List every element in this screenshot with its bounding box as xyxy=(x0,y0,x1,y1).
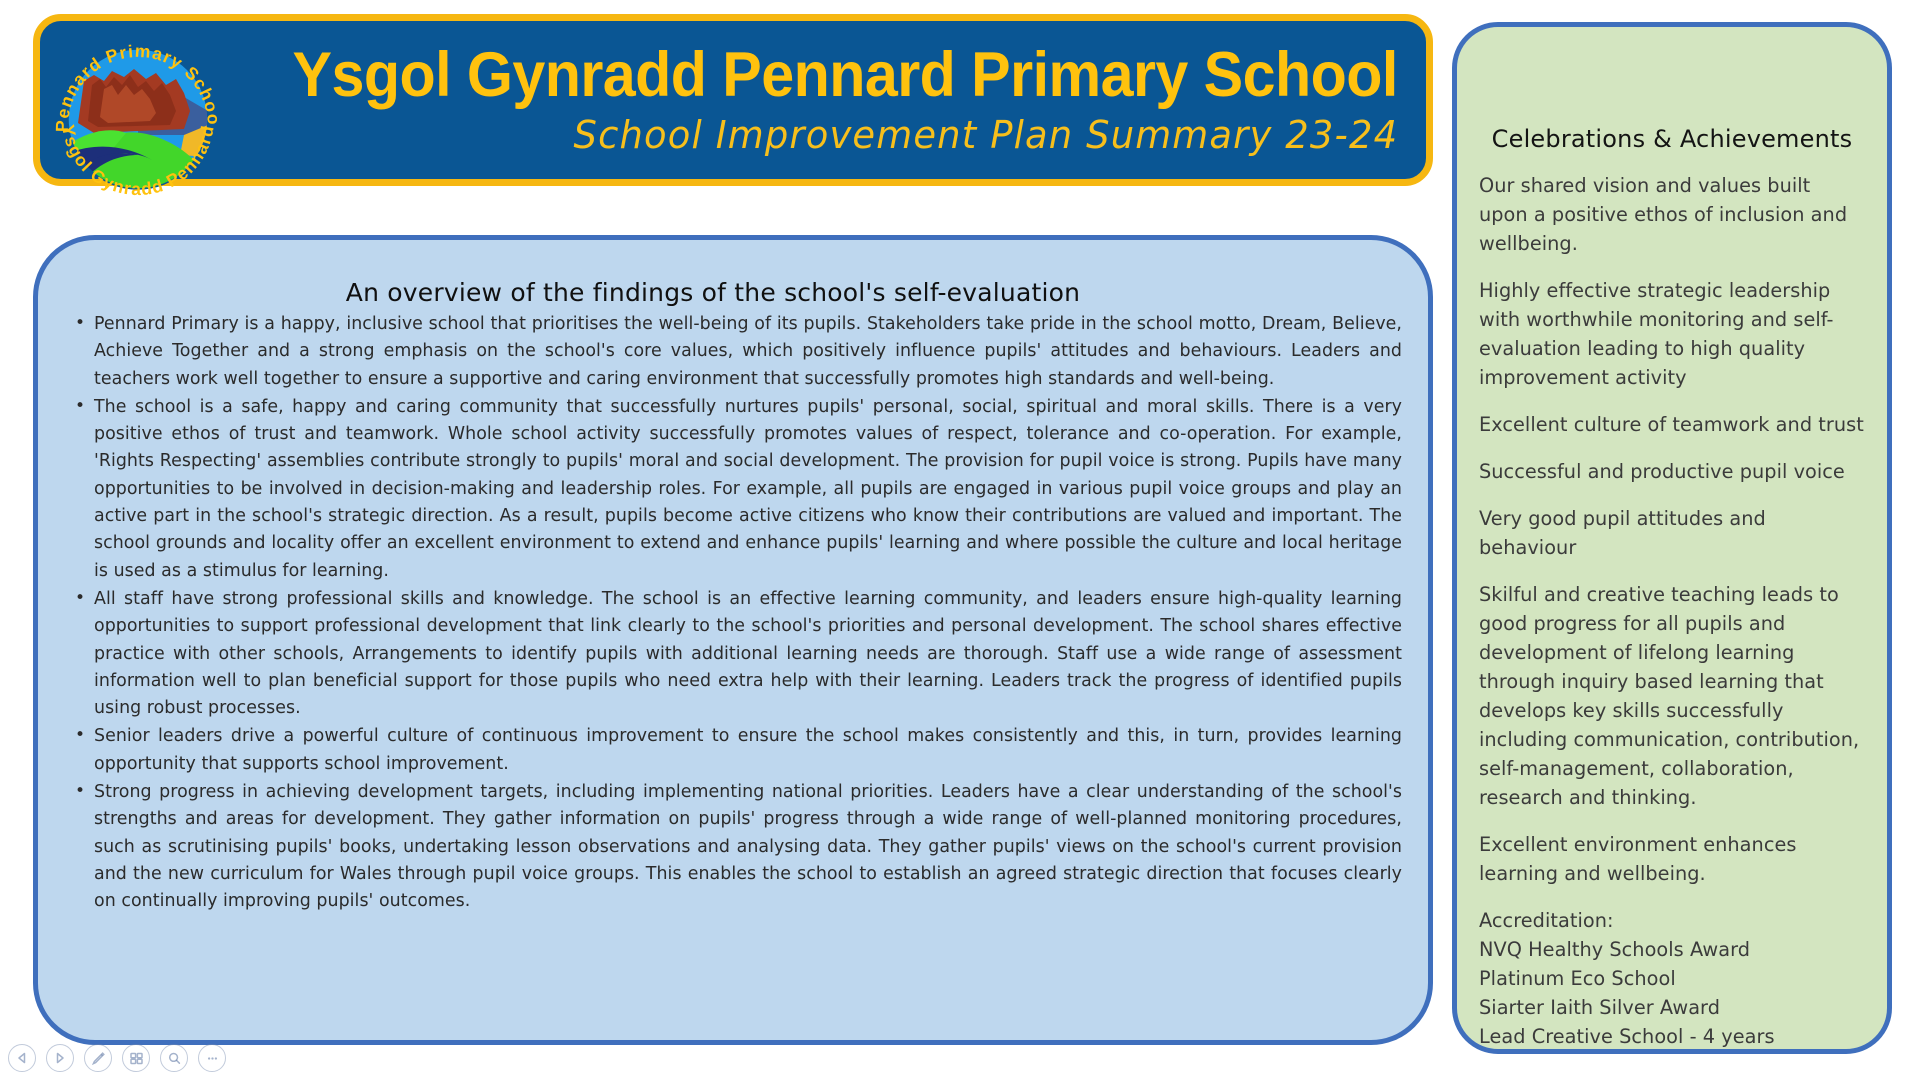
pen-icon xyxy=(91,1051,106,1066)
all-slides-button[interactable] xyxy=(122,1044,150,1072)
accreditation-item: Platinum Eco School xyxy=(1479,964,1865,993)
accreditation-item: Siarter Iaith Silver Award xyxy=(1479,993,1865,1022)
celebrations-paragraph-list: Our shared vision and values built upon … xyxy=(1479,171,1865,888)
ellipsis-icon xyxy=(205,1051,220,1066)
accreditation-item: NVQ Healthy Schools Award xyxy=(1479,935,1865,964)
finding-bullet: Strong progress in achieving development… xyxy=(64,779,1402,915)
celebration-item: Excellent culture of teamwork and trust xyxy=(1479,410,1865,439)
accreditation-block: Accreditation: NVQ Healthy Schools Award… xyxy=(1479,906,1865,1054)
page-title: Ysgol Gynradd Pennard Primary School xyxy=(293,44,1398,107)
triangle-left-icon xyxy=(15,1051,29,1065)
findings-list: Pennard Primary is a happy, inclusive sc… xyxy=(64,311,1402,916)
accreditation-list: NVQ Healthy Schools AwardPlatinum Eco Sc… xyxy=(1479,935,1865,1054)
celebration-item: Excellent environment enhances learning … xyxy=(1479,830,1865,888)
next-slide-button[interactable] xyxy=(46,1044,74,1072)
slide-canvas: Pennard Primary School Ysgol Gynradd Pen… xyxy=(0,0,1920,1080)
self-evaluation-panel: An overview of the findings of the schoo… xyxy=(33,235,1433,1045)
accreditation-label: Accreditation: xyxy=(1479,906,1865,935)
celebrations-panel: Celebrations & Achievements Our shared v… xyxy=(1452,22,1892,1054)
header-text-block: Ysgol Gynradd Pennard Primary School Sch… xyxy=(240,21,1408,179)
accreditation-item: Autism friendly school xyxy=(1479,1051,1865,1054)
celebration-item: Highly effective strategic leadership wi… xyxy=(1479,276,1865,392)
finding-bullet: All staff have strong professional skill… xyxy=(64,586,1402,722)
celebration-item: Successful and productive pupil voice xyxy=(1479,457,1865,486)
accreditation-item: Lead Creative School - 4 years xyxy=(1479,1022,1865,1051)
more-options-button[interactable] xyxy=(198,1044,226,1072)
grid-slides-icon xyxy=(129,1051,144,1066)
celebrations-heading: Celebrations & Achievements xyxy=(1479,125,1865,153)
celebration-item: Our shared vision and values built upon … xyxy=(1479,171,1865,258)
finding-bullet: Senior leaders drive a powerful culture … xyxy=(64,723,1402,778)
finding-bullet: The school is a safe, happy and caring c… xyxy=(64,394,1402,585)
pen-tools-button[interactable] xyxy=(84,1044,112,1072)
triangle-right-icon xyxy=(53,1051,67,1065)
celebration-item: Very good pupil attitudes and behaviour xyxy=(1479,504,1865,562)
page-subtitle: School Improvement Plan Summary 23-24 xyxy=(573,115,1398,157)
previous-slide-button[interactable] xyxy=(8,1044,36,1072)
school-logo: Pennard Primary School Ysgol Gynradd Pen… xyxy=(34,15,242,223)
celebration-item: Skilful and creative teaching leads to g… xyxy=(1479,580,1865,812)
zoom-button[interactable] xyxy=(160,1044,188,1072)
self-evaluation-heading: An overview of the findings of the schoo… xyxy=(64,278,1402,307)
header-banner: Pennard Primary School Ysgol Gynradd Pen… xyxy=(33,14,1433,186)
magnifier-icon xyxy=(167,1051,182,1066)
finding-bullet: Pennard Primary is a happy, inclusive sc… xyxy=(64,311,1402,393)
presenter-toolbar xyxy=(8,1044,226,1072)
